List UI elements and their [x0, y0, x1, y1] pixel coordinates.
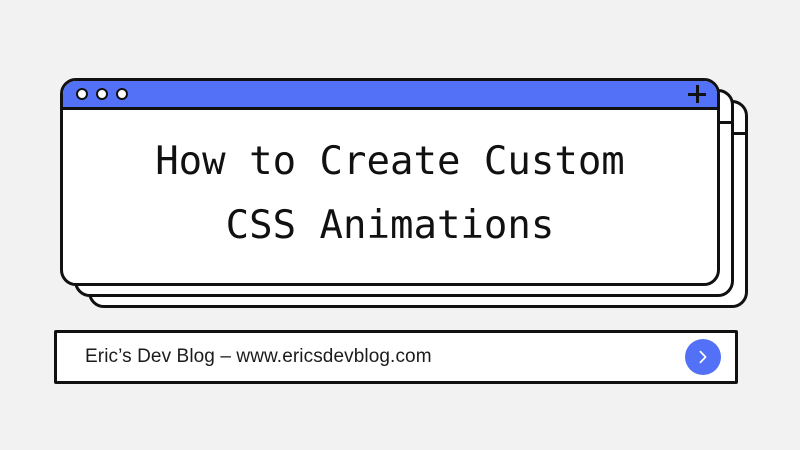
- window-minimize-dot-icon[interactable]: [96, 88, 108, 100]
- browser-window-card-front[interactable]: How to Create Custom CSS Animations: [60, 78, 720, 286]
- headline-line-2: CSS Animations: [226, 194, 555, 257]
- window-close-dot-icon[interactable]: [76, 88, 88, 100]
- footer-label: Eric’s Dev Blog – www.ericsdevblog.com: [85, 346, 432, 368]
- window-maximize-dot-icon[interactable]: [116, 88, 128, 100]
- browser-window-stack: How to Create Custom CSS Animations: [60, 78, 748, 308]
- chevron-right-icon: [694, 348, 712, 366]
- footer-bar[interactable]: Eric’s Dev Blog – www.ericsdevblog.com: [54, 330, 738, 384]
- browser-content-area: How to Create Custom CSS Animations: [63, 110, 717, 283]
- browser-titlebar[interactable]: [63, 81, 717, 110]
- traffic-light-group: [76, 88, 128, 100]
- slide-canvas: How to Create Custom CSS Animations Eric…: [0, 0, 800, 450]
- plus-icon[interactable]: [688, 85, 706, 103]
- next-button[interactable]: [685, 339, 721, 375]
- headline-line-1: How to Create Custom: [155, 130, 625, 193]
